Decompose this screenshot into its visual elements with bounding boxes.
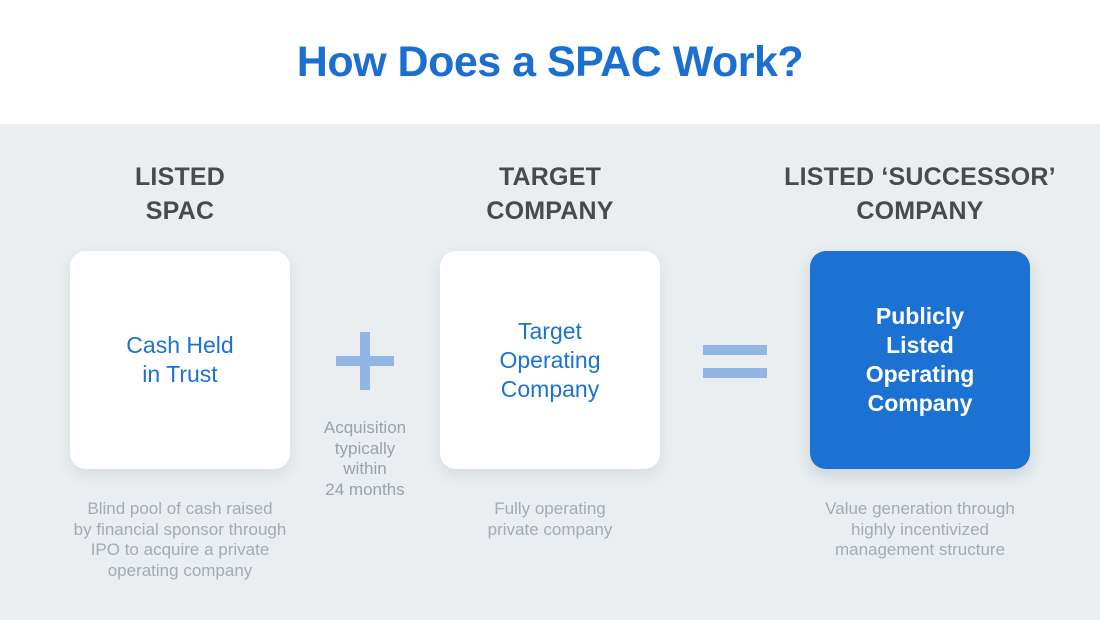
equals-icon-bottom-bar (703, 368, 767, 378)
card-label: Target Operating Company (499, 317, 600, 404)
column-heading-listed-successor-company: LISTED ‘SUCCESSOR’ COMPANY (760, 160, 1080, 228)
plus-icon-vertical-bar (360, 332, 370, 390)
infographic-canvas: How Does a SPAC Work? LISTED SPAC TARGET… (0, 0, 1100, 620)
plus-icon (336, 332, 394, 390)
acquisition-timing-note: Acquisition typically within 24 months (295, 418, 435, 500)
card-publicly-listed-operating-company: Publicly Listed Operating Company (810, 251, 1030, 469)
page-title: How Does a SPAC Work? (297, 38, 803, 87)
header-band: How Does a SPAC Work? (0, 0, 1100, 124)
column-heading-listed-spac: LISTED SPAC (40, 160, 320, 228)
caption-listed-spac: Blind pool of cash raised by financial s… (40, 499, 320, 581)
equals-icon (703, 345, 767, 378)
card-label: Publicly Listed Operating Company (866, 302, 975, 418)
caption-target-company: Fully operating private company (425, 499, 675, 540)
card-label: Cash Held in Trust (126, 331, 233, 389)
column-heading-target-company: TARGET COMPANY (410, 160, 690, 228)
card-target-operating-company: Target Operating Company (440, 251, 660, 469)
caption-listed-successor-company: Value generation through highly incentiv… (785, 499, 1055, 561)
card-cash-held-in-trust: Cash Held in Trust (70, 251, 290, 469)
equals-icon-top-bar (703, 345, 767, 355)
